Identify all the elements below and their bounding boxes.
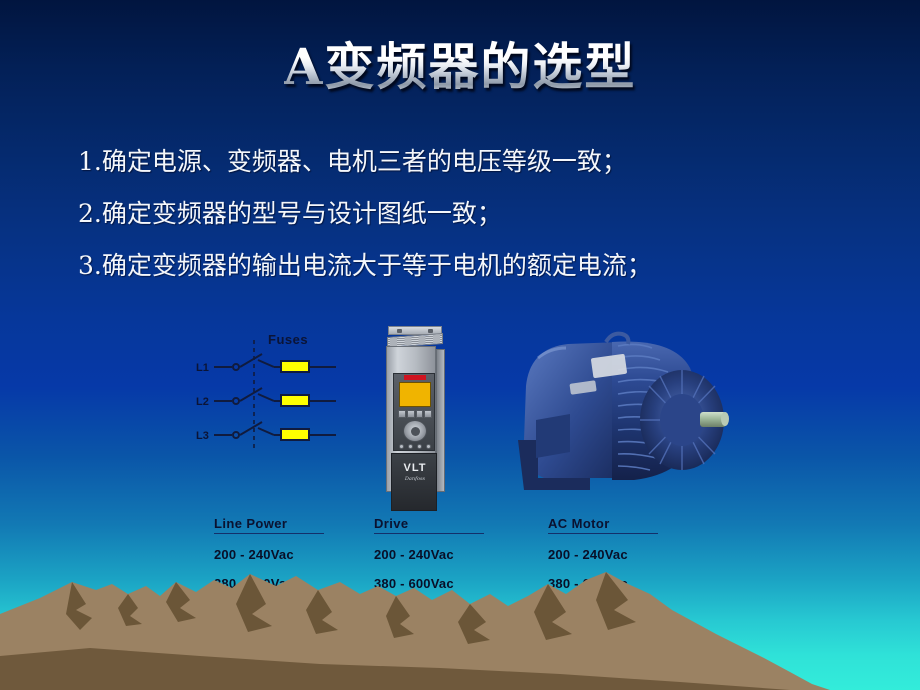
table-cell: 380 - 600Vac <box>374 569 564 598</box>
table-cell: 550 - 600Vac <box>374 598 564 627</box>
bullet-list: 1.确定电源、变频器、电机三者的电压等级一致； 2.确定变频器的型号与设计图纸一… <box>78 136 878 292</box>
drive-dot-2 <box>408 444 413 449</box>
drive-control-panel <box>393 373 435 451</box>
drive-function-keys <box>398 410 432 418</box>
drive-key-4 <box>424 410 432 418</box>
table-cell: 380 - 600Vac <box>548 569 738 598</box>
drive-lcd-screen <box>399 382 431 407</box>
line-power-schematic-icon: Fuses L1 L2 L3 <box>196 332 356 462</box>
table-column-drive: Drive 200 - 240Vac 380 - 600Vac 550 - 60… <box>374 516 564 627</box>
drive-brand-label: VLT <box>392 462 438 474</box>
drive-key-2 <box>407 410 415 418</box>
drive-dot-4 <box>426 444 431 449</box>
drive-key-3 <box>416 410 424 418</box>
drive-lower-cover: VLT Danfoss <box>391 453 437 511</box>
drive-front-body: VLT Danfoss <box>386 346 436 492</box>
bullet-item-2: 2.确定变频器的型号与设计图纸一致； <box>78 188 878 240</box>
motor-end-bearing <box>660 394 704 446</box>
table-cell: 550 - 600Vac <box>548 598 738 627</box>
slide-title-container: A变频器的选型 <box>0 38 920 96</box>
drive-navigation-wheel <box>403 420 427 442</box>
system-diagram: Fuses L1 L2 L3 <box>0 318 920 528</box>
drive-dot-1 <box>399 444 404 449</box>
page-title: A变频器的选型 <box>284 38 637 96</box>
ac-motor-icon <box>494 328 730 503</box>
table-column-ac-motor: AC Motor 200 - 240Vac 380 - 600Vac 550 -… <box>548 516 738 627</box>
vlt-drive-icon: VLT Danfoss <box>384 326 446 492</box>
mountain-foreground <box>0 648 790 690</box>
column-header: Drive <box>374 516 484 534</box>
fuse-icon-l1 <box>280 360 310 373</box>
bullet-item-3: 3.确定变频器的输出电流大于等于电机的额定电流； <box>78 240 878 292</box>
table-cell: 200 - 240Vac <box>548 540 738 569</box>
drive-sub-brand-label: Danfoss <box>392 476 438 482</box>
drive-key-1 <box>398 410 406 418</box>
drive-logo-bar <box>404 375 426 380</box>
voltage-table: Line Power 200 - 240Vac 380 - 600Vac 550… <box>0 516 920 646</box>
drive-indicator-buttons <box>399 444 431 450</box>
presentation-slide: A变频器的选型 1.确定电源、变频器、电机三者的电压等级一致； 2.确定变频器的… <box>0 0 920 690</box>
schematic-wires-icon <box>196 332 356 462</box>
motor-shaft-end <box>721 412 729 426</box>
column-header: Line Power <box>214 516 324 534</box>
motor-terminal-box <box>536 414 570 458</box>
bullet-item-1: 1.确定电源、变频器、电机三者的电压等级一致； <box>78 136 878 188</box>
fuse-icon-l2 <box>280 394 310 407</box>
table-cell: 200 - 240Vac <box>374 540 564 569</box>
column-header: AC Motor <box>548 516 658 534</box>
fuse-icon-l3 <box>280 428 310 441</box>
drive-dot-3 <box>417 444 422 449</box>
